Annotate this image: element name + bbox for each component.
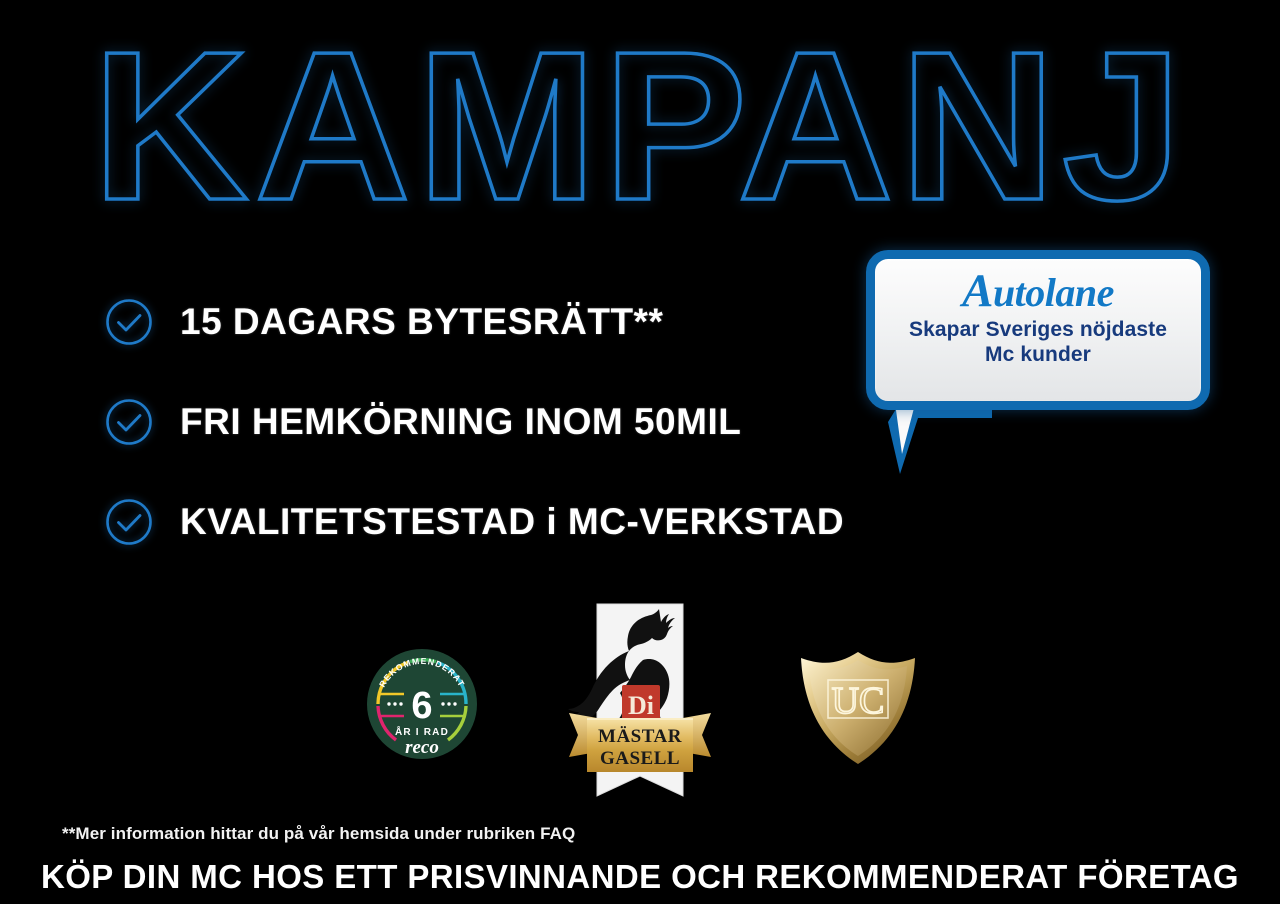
di-logo-text: Di (628, 691, 654, 720)
reco-badge-icon: REKOMMENDERAT 6 ÅR I RAD reco (364, 646, 480, 762)
campaign-banner: KAMPANJ 15 DAGARS BYTESRÄTT** FRI HEMKÖR… (0, 0, 1280, 904)
bubble-tagline-line-1: Skapar Sveriges nöjdaste (909, 317, 1167, 342)
svg-text:reco: reco (405, 737, 439, 758)
uc-logo-text: UC (832, 680, 885, 722)
autolane-logo-initial: A (962, 265, 993, 317)
check-circle-icon (104, 297, 154, 347)
di-mastargasell-badge-icon: Di MÄSTAR GASELL (565, 600, 715, 818)
benefit-label: 15 DAGARS BYTESRÄTT** (180, 302, 663, 342)
certification-badges: REKOMMENDERAT 6 ÅR I RAD reco (0, 600, 1280, 825)
check-circle-icon (104, 497, 154, 547)
uc-badge-icon: UC (795, 640, 921, 770)
list-item: FRI HEMKÖRNING INOM 50MIL (104, 392, 904, 452)
autolane-logo-rest: utolane (993, 270, 1114, 315)
bubble-tagline-line-2: Mc kunder (985, 342, 1091, 367)
list-item: 15 DAGARS BYTESRÄTT** (104, 292, 904, 352)
benefits-list: 15 DAGARS BYTESRÄTT** FRI HEMKÖRNING INO… (104, 292, 904, 552)
speech-bubble-body: Autolane Skapar Sveriges nöjdaste Mc kun… (866, 250, 1210, 410)
autolane-speech-bubble: Autolane Skapar Sveriges nöjdaste Mc kun… (866, 250, 1210, 475)
benefit-label: KVALITETSTESTAD i MC-VERKSTAD (180, 502, 844, 542)
page-title: KAMPANJ (92, 20, 1188, 232)
list-item: KVALITETSTESTAD i MC-VERKSTAD (104, 492, 904, 552)
ribbon-line-1: MÄSTAR (598, 726, 682, 747)
svg-text:6: 6 (411, 685, 432, 727)
benefit-label: FRI HEMKÖRNING INOM 50MIL (180, 402, 741, 442)
autolane-logo: Autolane (962, 269, 1114, 315)
headline-container: KAMPANJ (0, 18, 1280, 233)
check-circle-icon (104, 397, 154, 447)
footnote-text: **Mer information hittar du på vår hemsi… (62, 824, 575, 844)
footer-tagline: KÖP DIN MC HOS ETT PRISVINNANDE OCH REKO… (0, 858, 1280, 896)
ribbon-line-2: GASELL (600, 748, 680, 769)
